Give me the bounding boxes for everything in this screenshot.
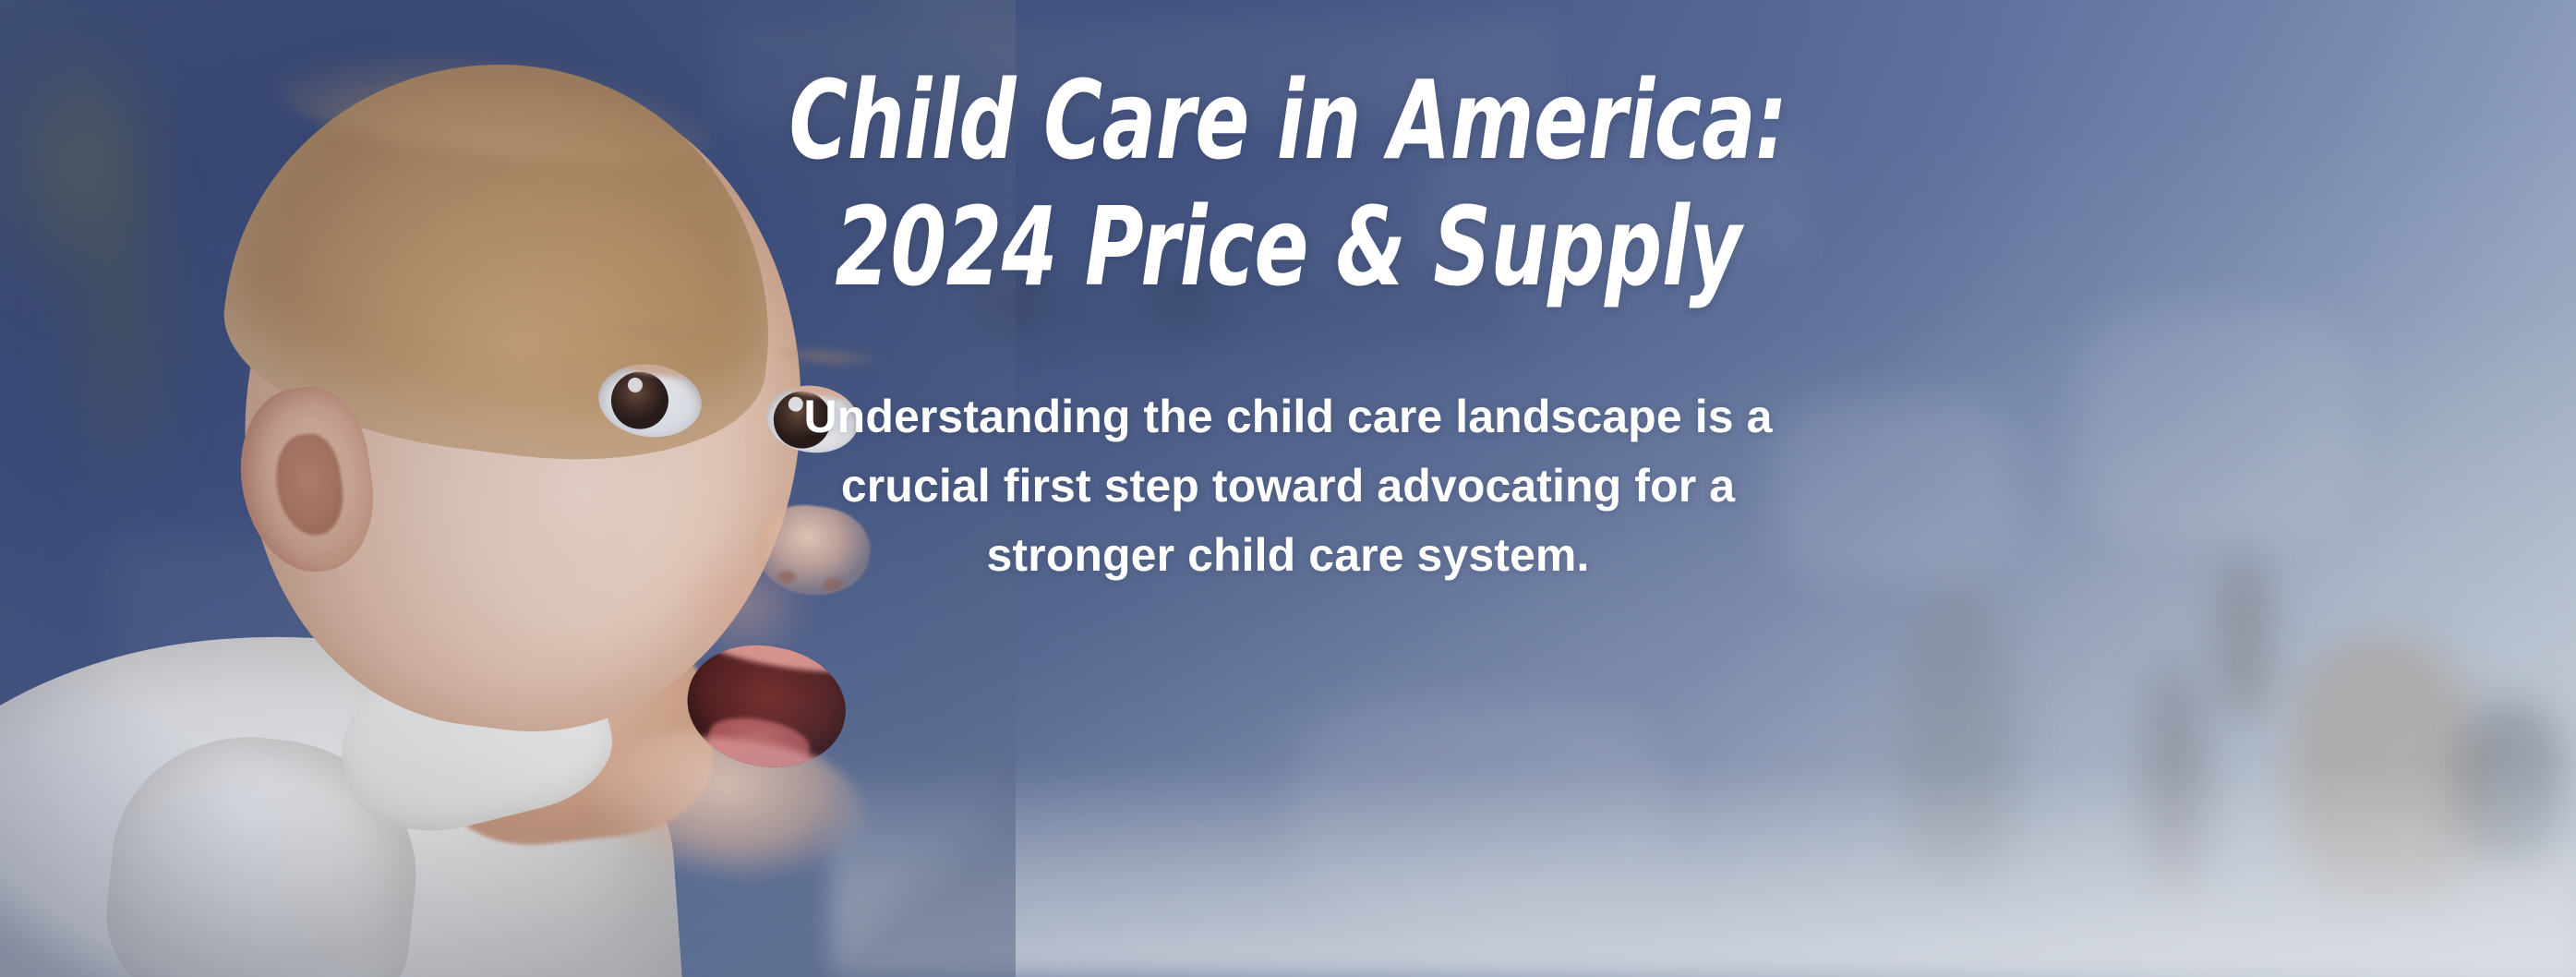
page-title-line-1: Child Care in America:	[690, 57, 1886, 184]
blurred-background-shape	[1773, 397, 2013, 582]
hero-banner: Child Care in America: 2024 Price & Supp…	[0, 0, 2576, 977]
blurred-furniture-silhouette	[2216, 554, 2271, 720]
page-subtitle-line-3: stronger child care system.	[987, 529, 1590, 581]
page-title: Child Care in America: 2024 Price & Supp…	[690, 0, 1886, 310]
baby-iris	[608, 368, 671, 432]
baby-nostril	[777, 571, 796, 583]
blurred-floor	[831, 765, 2576, 977]
page-title-line-2: 2024 Price & Supply	[690, 184, 1886, 310]
page-subtitle-line-1: Understanding the child care landscape i…	[803, 391, 1772, 442]
blurred-background-shape	[2077, 305, 2354, 545]
page-subtitle: Understanding the child care landscape i…	[803, 310, 1773, 590]
page-subtitle-line-2: crucial first step toward advocating for…	[841, 460, 1735, 512]
